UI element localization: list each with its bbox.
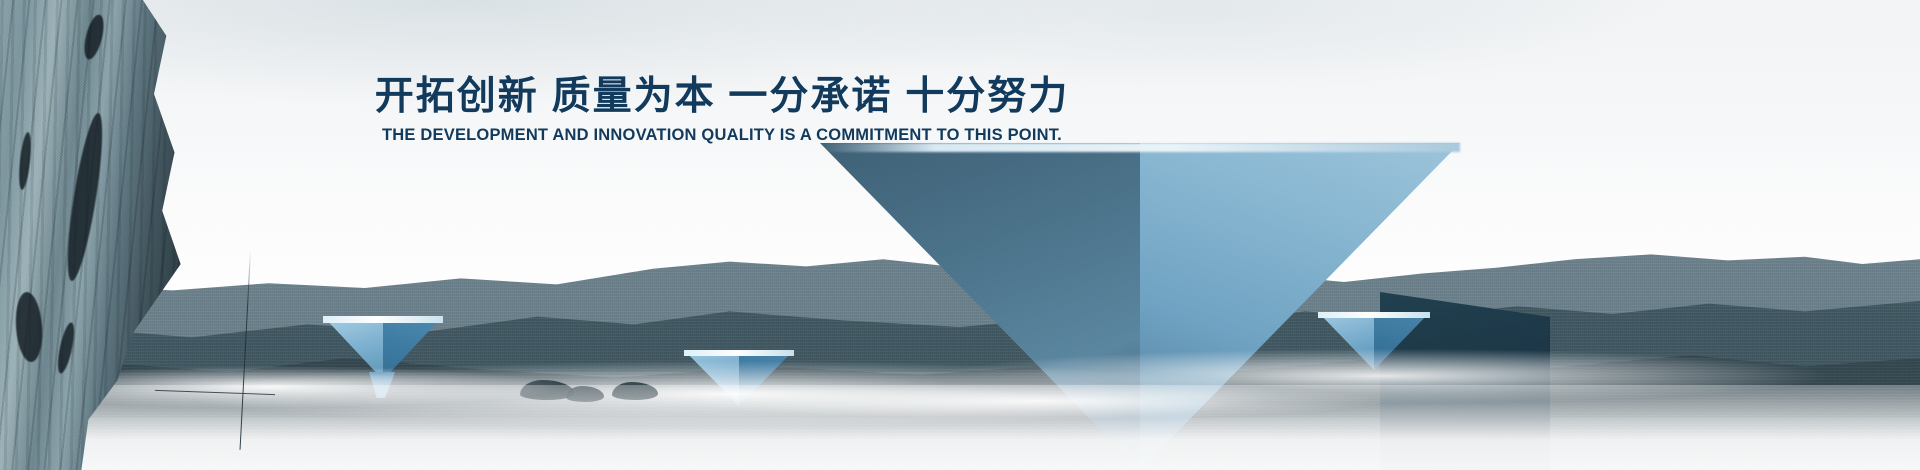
pyramid-small-center-face-left: [684, 350, 739, 406]
banner-subheadline: THE DEVELOPMENT AND INNOVATION QUALITY I…: [372, 126, 1072, 145]
inverted-pyramid-large: [820, 143, 1460, 470]
hero-banner: 开拓创新 质量为本 一分承诺 十分努力 THE DEVELOPMENT AND …: [0, 0, 1920, 470]
pyramid-small-left-top-edge: [323, 316, 443, 323]
inverted-pyramid-small-center: [684, 350, 794, 406]
cliff-crack: [106, 386, 139, 447]
cliff-texture-streaks: [0, 0, 190, 470]
pyramid-small-center-top-edge: [684, 350, 794, 356]
pyramid-small-right-top-edge: [1318, 312, 1430, 318]
inverted-pyramid-small-right: [1318, 312, 1430, 370]
banner-headline: 开拓创新 质量为本 一分承诺 十分努力: [372, 76, 1072, 117]
cliff-rock-face: [0, 0, 190, 470]
banner-copy-block: 开拓创新 质量为本 一分承诺 十分努力 THE DEVELOPMENT AND …: [372, 76, 1072, 145]
pyramid-small-left-face-right: [383, 316, 443, 380]
rock-cliff-left: [0, 0, 190, 470]
pyramid-small-center-face-right: [739, 350, 794, 406]
pyramid-small-right-face-left: [1318, 312, 1374, 370]
pyramid-large-face-left: [820, 143, 1140, 470]
pyramid-small-left-face-left: [323, 316, 383, 380]
inverted-pyramid-small-left: [323, 316, 443, 380]
pyramid-small-right-face-right: [1374, 312, 1430, 370]
